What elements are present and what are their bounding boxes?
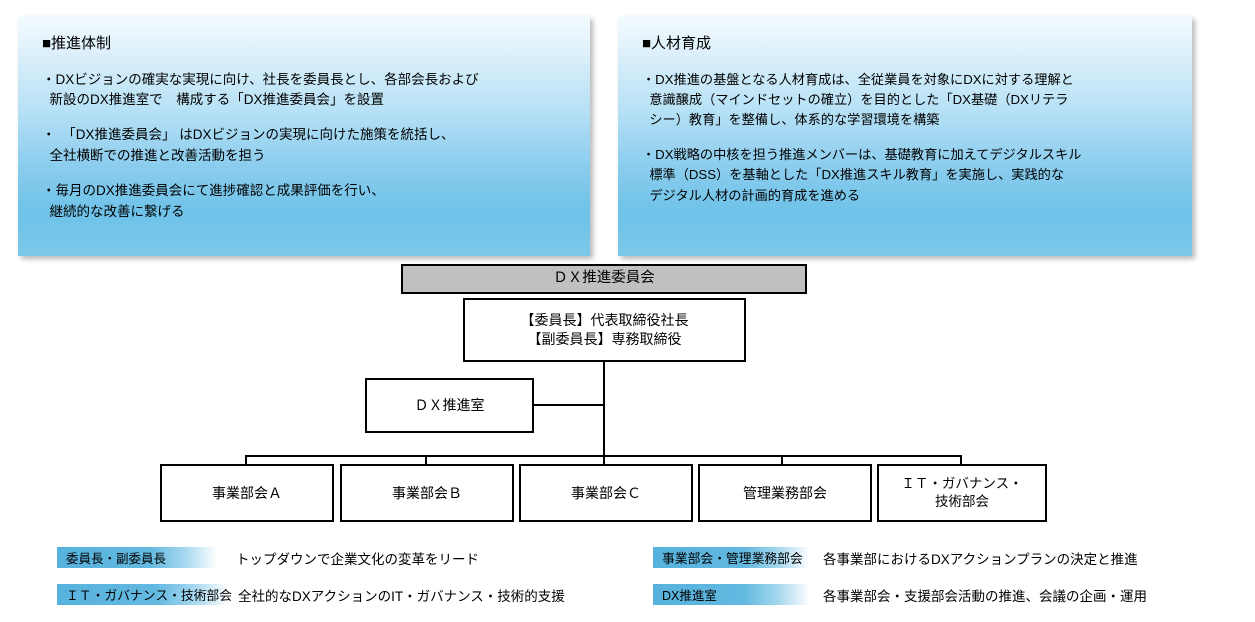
connector-drop-dept-3 — [603, 455, 605, 465]
promotion-system-bullet-list: ・DXビジョンの確実な実現に向け、社長を委員長とし、各部会長および 新設のDX推… — [38, 70, 570, 224]
connector-drop-dept-4 — [781, 455, 783, 465]
connector-drop-dept-2 — [425, 455, 427, 465]
legend-swatch-dx-office: DX推進室 — [653, 584, 810, 605]
legend-row: 事業部会・管理業務部会 各事業部におけるDXアクションプランの決定と推進 — [653, 547, 1138, 568]
human-resource-development-panel: ■人材育成 ・DX推進の基盤となる人材育成は、全従業員を対象にDXに対する理解と… — [618, 16, 1192, 256]
promotion-system-panel: ■推進体制 ・DXビジョンの確実な実現に向け、社長を委員長とし、各部会長および … — [18, 16, 590, 256]
connector-drop-dept-1 — [245, 455, 247, 465]
legend-description: トップダウンで企業文化の変革をリード — [236, 548, 479, 568]
connector-drop-dept-5 — [960, 455, 962, 465]
panel-title-promotion-system: ■推進体制 — [42, 34, 570, 54]
connector-department-bus — [246, 455, 962, 457]
panel-title-human-resource-development: ■人材育成 — [642, 34, 1172, 54]
org-node-department-c[interactable]: 事業部会Ｃ — [519, 464, 693, 522]
legend-swatch-chairperson: 委員長・副委員長 — [57, 547, 217, 568]
org-node-dx-office[interactable]: ＤＸ推進室 — [365, 378, 534, 433]
org-node-management-department[interactable]: 管理業務部会 — [698, 464, 872, 522]
bullet-item: ・ 「DX推進委員会」 はDXビジョンの実現に向けた施策を統括し、 全社横断での… — [42, 125, 570, 167]
legend-description: 各事業部におけるDXアクションプランの決定と推進 — [823, 548, 1138, 568]
legend-description: 全社的なDXアクションのIT・ガバナンス・技術的支援 — [238, 585, 565, 605]
org-node-it-governance-department[interactable]: ＩＴ・ガバナンス・ 技術部会 — [877, 464, 1047, 522]
legend-description: 各事業部会・支援部会活動の推進、会議の企画・運用 — [823, 585, 1147, 605]
org-node-department-a[interactable]: 事業部会Ａ — [160, 464, 334, 522]
legend-row: 委員長・副委員長 トップダウンで企業文化の変革をリード — [57, 547, 479, 568]
connector-chair-trunk — [603, 362, 605, 457]
bullet-item: ・DX戦略の中核を担う推進メンバーは、基礎教育に加えてデジタルスキル 標準（DS… — [642, 145, 1172, 206]
bullet-item: ・DXビジョンの確実な実現に向け、社長を委員長とし、各部会長および 新設のDX推… — [42, 70, 570, 112]
org-node-department-b[interactable]: 事業部会Ｂ — [340, 464, 514, 522]
connector-office-branch — [533, 404, 604, 406]
legend-row: ＩＴ・ガバナンス・技術部会 全社的なDXアクションのIT・ガバナンス・技術的支援 — [57, 584, 565, 605]
org-node-chairperson[interactable]: 【委員長】代表取締役社長 【副委員長】専務取締役 — [463, 298, 746, 362]
legend-row: DX推進室 各事業部会・支援部会活動の推進、会議の企画・運用 — [653, 584, 1147, 605]
org-node-committee[interactable]: ＤＸ推進委員会 — [401, 264, 807, 294]
human-resource-bullet-list: ・DX推進の基盤となる人材育成は、全従業員を対象にDXに対する理解と 意識醸成（… — [638, 70, 1172, 207]
legend-swatch-business-management: 事業部会・管理業務部会 — [653, 547, 810, 568]
legend-swatch-it-governance: ＩＴ・ガバナンス・技術部会 — [57, 584, 229, 605]
bullet-item: ・毎月のDX推進委員会にて進捗確認と成果評価を行い、 継続的な改善に繋げる — [42, 181, 570, 223]
bullet-item: ・DX推進の基盤となる人材育成は、全従業員を対象にDXに対する理解と 意識醸成（… — [642, 70, 1172, 131]
